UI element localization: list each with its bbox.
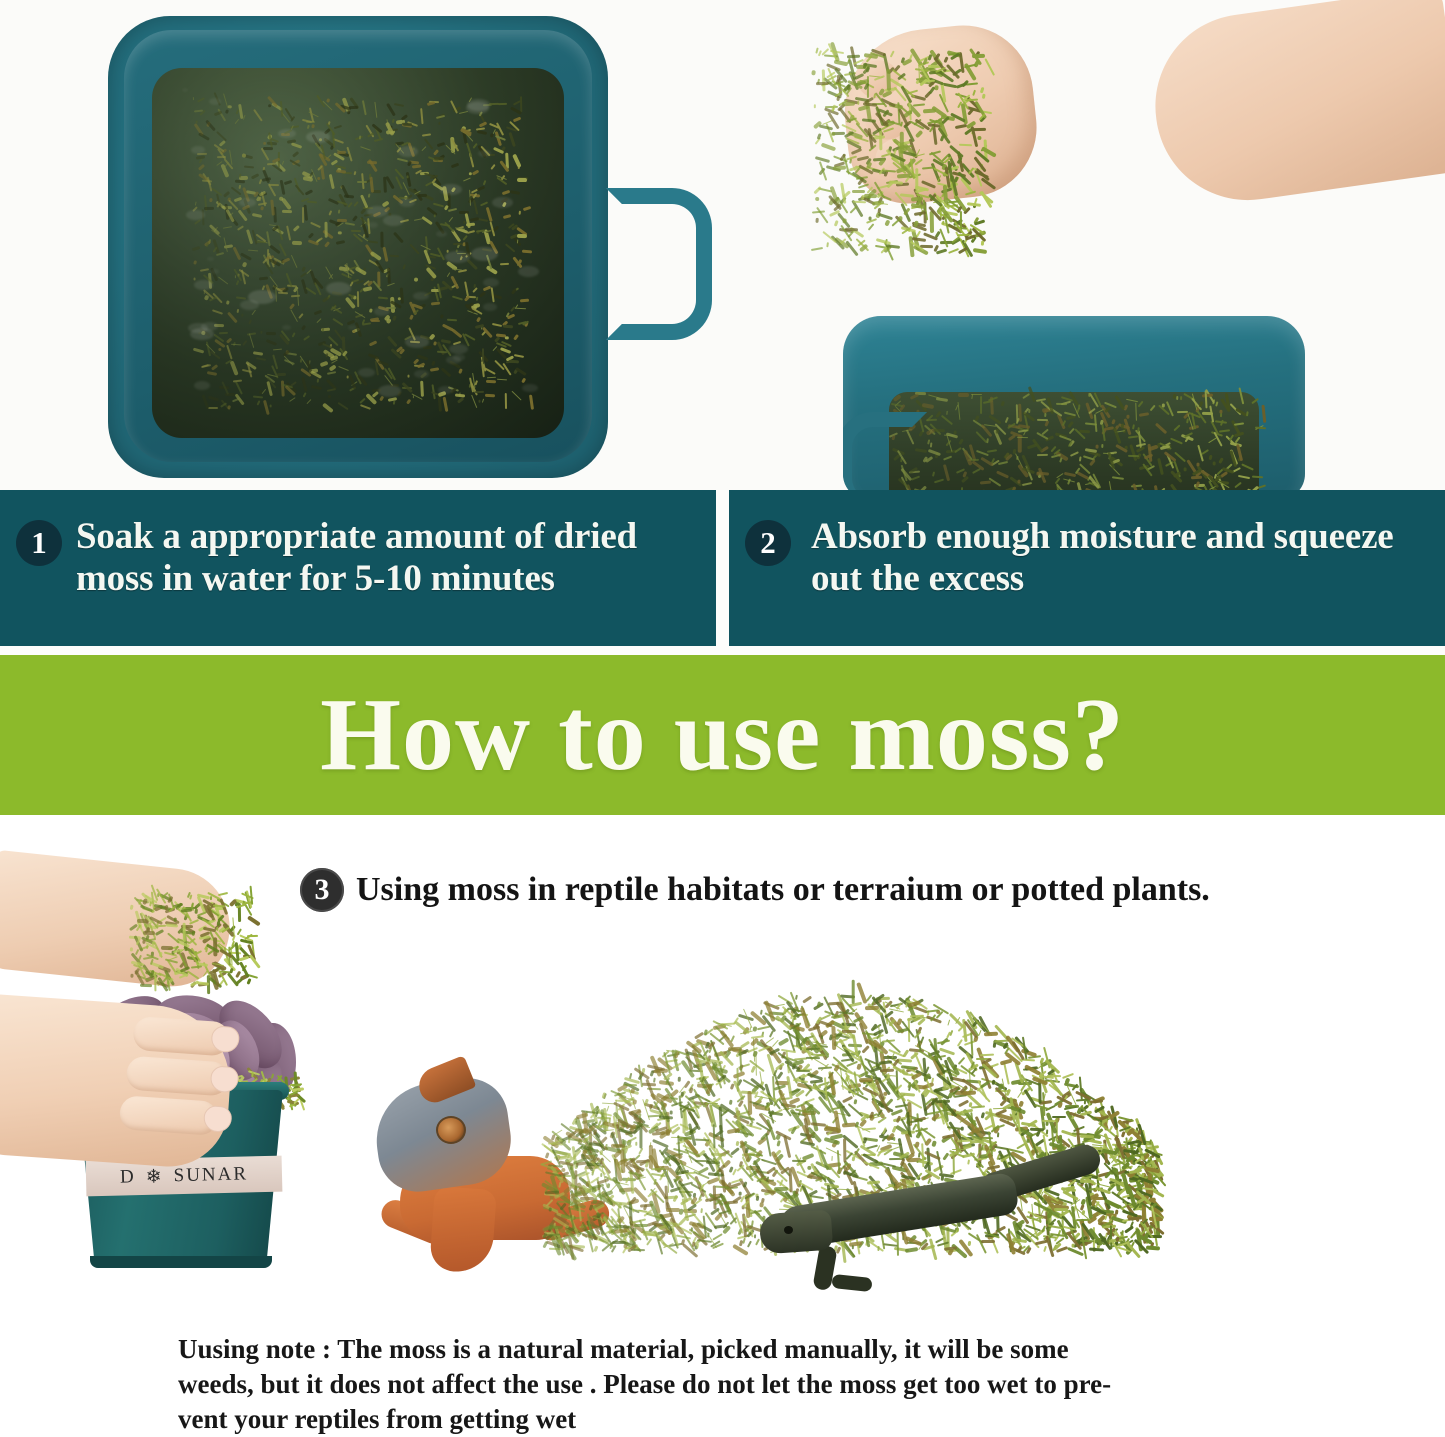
step-number-badge: 2 — [745, 520, 791, 566]
pot-label-left-text: D — [120, 1166, 136, 1188]
usage-note-line-3: vent your reptiles from getting wet — [178, 1402, 1298, 1437]
iguana-dewlap — [429, 1186, 497, 1274]
pot-base — [90, 1256, 272, 1268]
usage-note-line-1: Uusing note : The moss is a natural mate… — [178, 1332, 1298, 1367]
newt-foot — [831, 1274, 872, 1292]
basin-water-with-moss — [152, 68, 564, 438]
usage-note-line-2: weeds, but it does not affect the use . … — [178, 1367, 1298, 1402]
step-number-badge: 1 — [16, 520, 62, 566]
infographic-page: 1 Soak a appropriate amount of dried mos… — [0, 0, 1445, 1423]
step-divider — [716, 490, 729, 646]
step-number-badge: 3 — [300, 868, 344, 912]
photo-soaking-basin — [0, 0, 723, 490]
moss-clump-falling — [128, 892, 248, 984]
moss-clump-squeezed — [811, 50, 981, 250]
photo-row — [0, 0, 1445, 490]
basin-handle — [843, 412, 927, 490]
basin-soaking — [108, 16, 608, 478]
hand-holding-pot — [0, 993, 235, 1170]
basin-under-hand — [843, 316, 1305, 490]
pot-label-brand-text: SUNAR — [173, 1163, 248, 1187]
flower-glyph-icon: ❄ — [145, 1165, 163, 1188]
newt — [760, 1150, 1080, 1290]
usage-note: Uusing note : The moss is a natural mate… — [178, 1332, 1298, 1437]
newt-head — [759, 1210, 834, 1255]
step-2: 2 Absorb enough moisture and squeeze out… — [729, 490, 1445, 646]
iguana-eye — [436, 1116, 466, 1144]
step-1: 1 Soak a appropriate amount of dried mos… — [0, 490, 716, 646]
steps-bar: 1 Soak a appropriate amount of dried mos… — [0, 490, 1445, 646]
title-banner: How to use moss? — [0, 655, 1445, 815]
step-2-text: Absorb enough moisture and squeeze out t… — [811, 516, 1427, 600]
basin-water — [889, 392, 1259, 490]
step-3: 3 Using moss in reptile habitats or terr… — [300, 868, 1210, 912]
step-1-text: Soak a appropriate amount of dried moss … — [76, 516, 698, 600]
forearm — [1144, 0, 1445, 212]
newt-eye — [784, 1226, 793, 1234]
step-3-text: Using moss in reptile habitats or terrai… — [356, 871, 1210, 909]
page-title: How to use moss? — [320, 683, 1125, 787]
photo-squeezing-moss — [723, 0, 1445, 490]
